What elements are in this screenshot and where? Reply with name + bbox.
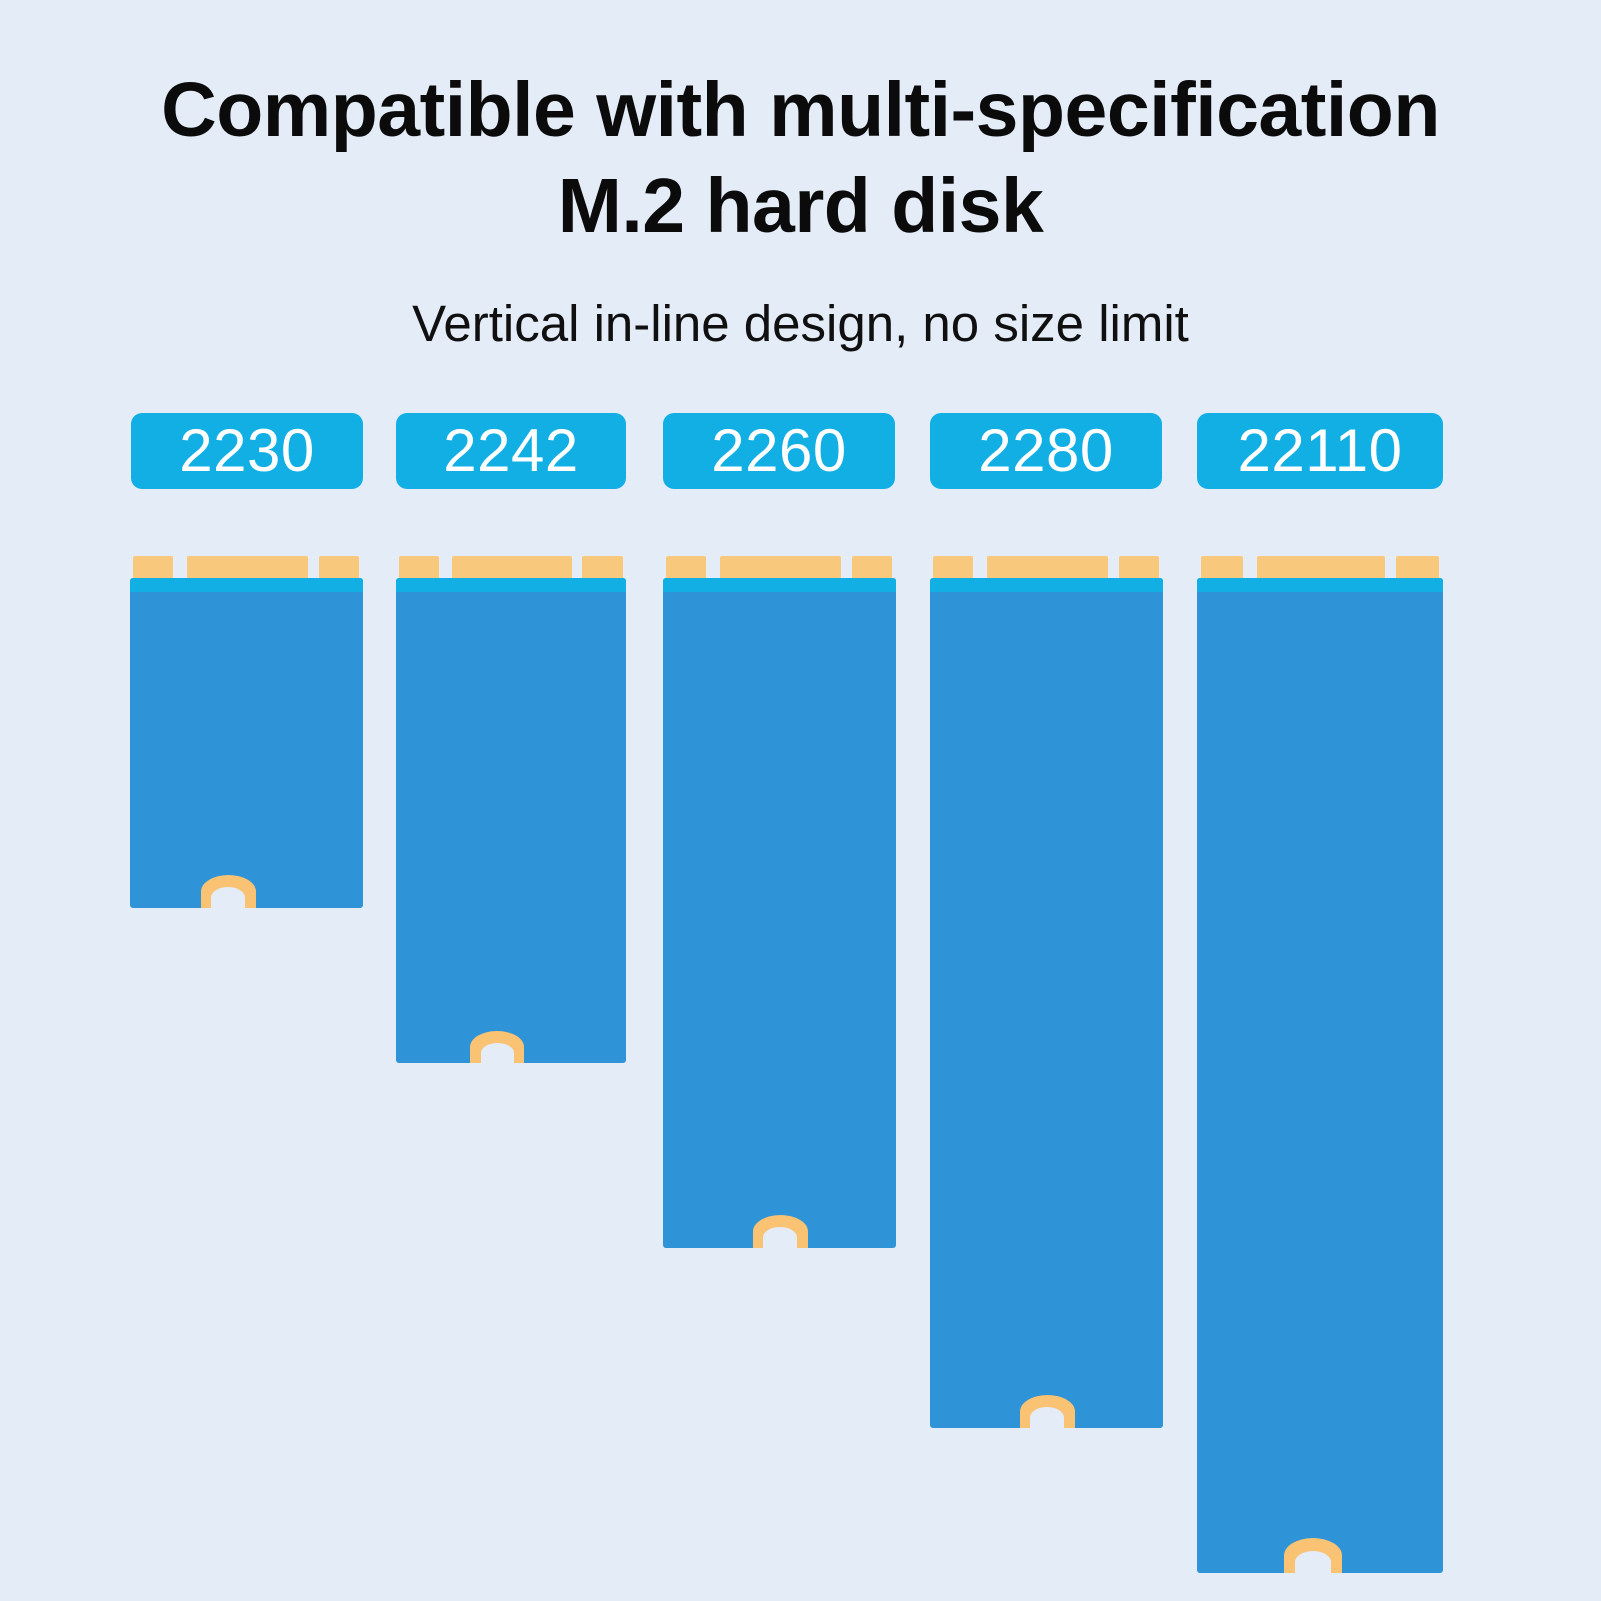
mounting-notch-hole bbox=[481, 1043, 514, 1063]
ssd-board-body bbox=[930, 578, 1163, 1428]
connector-pad bbox=[852, 556, 893, 578]
connector-pad bbox=[452, 556, 572, 578]
spec-badge-label: 2230 bbox=[179, 421, 314, 481]
spec-badge-label: 2260 bbox=[711, 421, 846, 481]
ssd-edge-connector-strip bbox=[130, 578, 363, 592]
ssd-board-body bbox=[663, 578, 896, 1248]
ssd-card-2280 bbox=[930, 556, 1163, 1428]
spec-badge-label: 2242 bbox=[443, 421, 578, 481]
ssd-board-body bbox=[396, 578, 626, 1063]
spec-badge-22110[interactable]: 22110 bbox=[1197, 413, 1443, 489]
connector-pad bbox=[319, 556, 360, 578]
page-title-line-1: Compatible with multi-specification bbox=[0, 62, 1601, 158]
connector-pad bbox=[1119, 556, 1160, 578]
connector-pad bbox=[1396, 556, 1439, 578]
ssd-board-body bbox=[1197, 578, 1443, 1573]
mounting-notch-hole bbox=[1295, 1551, 1331, 1573]
spec-badge-2280[interactable]: 2280 bbox=[930, 413, 1162, 489]
connector-pads bbox=[663, 556, 896, 578]
connector-pads bbox=[1197, 556, 1443, 578]
ssd-edge-connector-strip bbox=[1197, 578, 1443, 592]
connector-pad bbox=[720, 556, 841, 578]
connector-pad bbox=[1201, 556, 1243, 578]
spec-badge-2260[interactable]: 2260 bbox=[663, 413, 895, 489]
mounting-notch-hole bbox=[211, 887, 245, 908]
spec-badge-label: 2280 bbox=[978, 421, 1113, 481]
ssd-edge-connector-strip bbox=[930, 578, 1163, 592]
connector-pad bbox=[1257, 556, 1385, 578]
connector-pad bbox=[399, 556, 438, 578]
connector-pad bbox=[187, 556, 308, 578]
connector-pad bbox=[582, 556, 622, 578]
page-subtitle: Vertical in-line design, no size limit bbox=[0, 292, 1601, 356]
infographic-canvas: Compatible with multi-specification M.2 … bbox=[0, 0, 1601, 1601]
connector-pads bbox=[396, 556, 626, 578]
ssd-board-body bbox=[130, 578, 363, 908]
ssd-card-2230 bbox=[130, 556, 363, 908]
page-title-line-2: M.2 hard disk bbox=[0, 158, 1601, 254]
spec-badge-2230[interactable]: 2230 bbox=[131, 413, 363, 489]
ssd-card-2242 bbox=[396, 556, 626, 1063]
ssd-card-2260 bbox=[663, 556, 896, 1248]
ssd-edge-connector-strip bbox=[396, 578, 626, 592]
ssd-card-22110 bbox=[1197, 556, 1443, 1573]
mounting-notch-hole bbox=[763, 1227, 797, 1248]
mounting-notch-hole bbox=[1030, 1407, 1064, 1428]
connector-pads bbox=[930, 556, 1163, 578]
connector-pad bbox=[933, 556, 973, 578]
connector-pad bbox=[666, 556, 706, 578]
ssd-edge-connector-strip bbox=[663, 578, 896, 592]
connector-pad bbox=[133, 556, 173, 578]
connector-pad bbox=[987, 556, 1108, 578]
connector-pads bbox=[130, 556, 363, 578]
heading-block: Compatible with multi-specification M.2 … bbox=[0, 62, 1601, 356]
spec-badge-label: 22110 bbox=[1238, 421, 1403, 481]
spec-badge-2242[interactable]: 2242 bbox=[396, 413, 626, 489]
